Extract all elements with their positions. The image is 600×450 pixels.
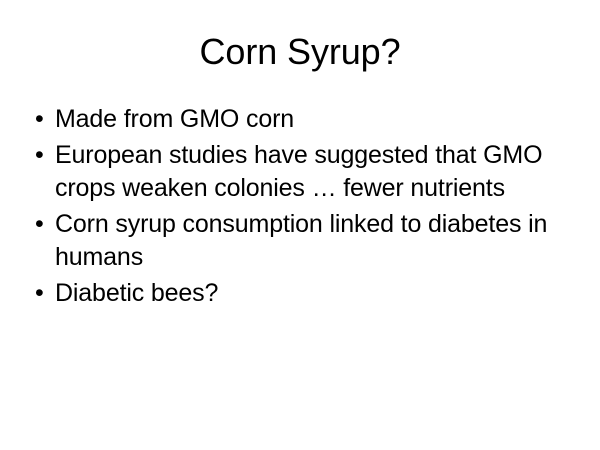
list-item[interactable]: • Corn syrup consumption linked to diabe… (28, 208, 562, 274)
list-item[interactable]: • Made from GMO corn (28, 103, 562, 136)
list-item-label: Diabetic bees? (55, 277, 562, 310)
slide-canvas: Corn Syrup? • Made from GMO corn • Europ… (0, 0, 600, 450)
list-item[interactable]: • European studies have suggested that G… (28, 139, 562, 205)
bullet-point-icon: • (35, 103, 49, 136)
list-item-label: Corn syrup consumption linked to diabete… (55, 208, 562, 274)
page-title: Corn Syrup? (0, 30, 600, 74)
list-item[interactable]: • Diabetic bees? (28, 277, 562, 310)
bullet-list: • Made from GMO corn • European studies … (28, 103, 562, 313)
bullet-point-icon: • (35, 208, 49, 241)
list-item-label: Made from GMO corn (55, 103, 562, 136)
bullet-point-icon: • (35, 277, 49, 310)
bullet-point-icon: • (35, 139, 49, 172)
list-item-label: European studies have suggested that GMO… (55, 139, 562, 205)
